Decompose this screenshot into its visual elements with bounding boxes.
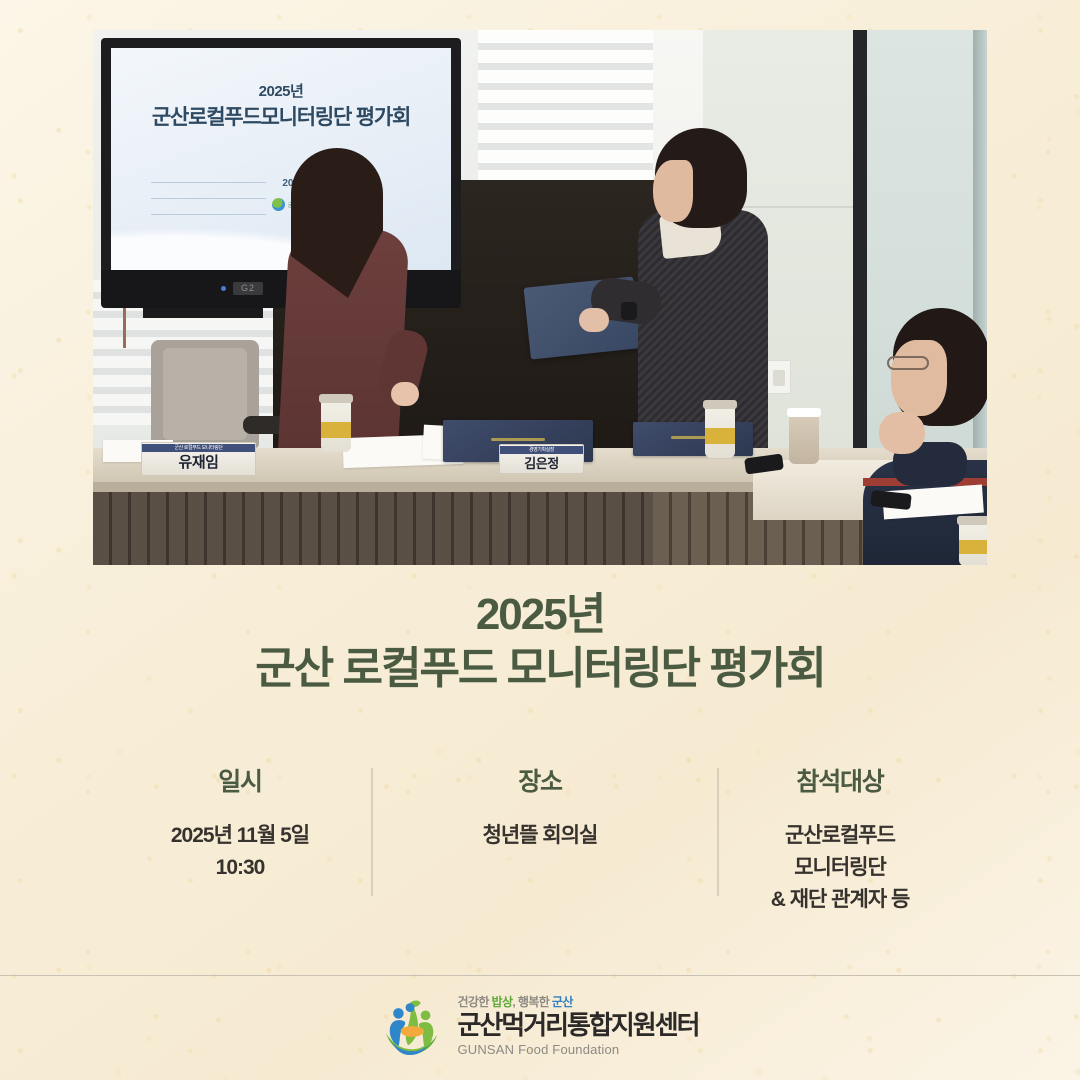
person-right-glasses-icon bbox=[887, 356, 929, 370]
foundation-logo-text: 건강한 밥상, 행복한 군산 군산먹거리통합지원센터 GUNSAN Food F… bbox=[457, 993, 698, 1057]
nameplate-2-name: 김은정 bbox=[524, 454, 558, 473]
nameplate-2-org: 경영기획실장 bbox=[500, 446, 583, 454]
footer: 건강한 밥상, 행복한 군산 군산먹거리통합지원센터 GUNSAN Food F… bbox=[0, 984, 1080, 1066]
monitor-led-icon bbox=[221, 286, 226, 291]
slide-year: 2025년 bbox=[111, 80, 451, 101]
column-divider-1 bbox=[371, 768, 373, 896]
nameplate-1-org: 군산 로컬푸드 모니터링단 bbox=[142, 444, 255, 452]
nameplate-2: 경영기획실장 김은정 bbox=[499, 444, 584, 474]
coffee-cup-2-lid bbox=[703, 400, 737, 409]
info-column-attendees: 참석대상 군산로컬푸드 모니터링단 & 재단 관계자 등 bbox=[690, 762, 990, 922]
coffee-cup-4-band bbox=[959, 540, 987, 554]
title-year: 2025년 bbox=[0, 588, 1080, 642]
info-value-place-line1: 청년뜰 회의실 bbox=[390, 820, 690, 852]
foundation-tagline: 건강한 밥상, 행복한 군산 bbox=[457, 993, 698, 1010]
info-column-place: 장소 청년뜰 회의실 bbox=[390, 762, 690, 922]
chair-cushion bbox=[163, 348, 247, 440]
event-photo: 2025년 군산로컬푸드모니터링단 평가회 2025. 11. 5. 군산먹거리… bbox=[93, 30, 987, 565]
info-heading-place: 장소 bbox=[390, 762, 690, 798]
coffee-cup-1-band bbox=[321, 422, 351, 438]
certificate-folder-right bbox=[633, 422, 753, 456]
nameplate-1-name: 유재임 bbox=[179, 452, 219, 474]
door-frame bbox=[853, 30, 867, 460]
poster-card: 2025년 군산로컬푸드모니터링단 평가회 2025. 11. 5. 군산먹거리… bbox=[0, 0, 1080, 1080]
tagline-part2: , 행복한 bbox=[512, 995, 552, 1009]
info-value-date-line2: 10:30 bbox=[90, 852, 390, 884]
tagline-highlight2: 군산 bbox=[552, 995, 573, 1009]
coffee-cup-4-lid bbox=[957, 516, 987, 525]
monitor-stand bbox=[143, 308, 263, 318]
coffee-cup-3 bbox=[789, 412, 819, 464]
monitor-brand-label: G2 bbox=[233, 282, 263, 295]
info-column-date: 일시 2025년 11월 5일 10:30 bbox=[90, 762, 390, 922]
person-right-face bbox=[891, 340, 947, 416]
wall-outlet bbox=[765, 360, 791, 394]
slide-logo-icon bbox=[272, 198, 285, 211]
person-right-hand bbox=[879, 412, 925, 454]
tagline-part1: 건강한 bbox=[457, 995, 491, 1009]
coffee-cup-1-lid bbox=[319, 394, 353, 403]
slide-title: 군산로컬푸드모니터링단 평가회 bbox=[111, 104, 451, 132]
tagline-highlight1: 밥상 bbox=[492, 995, 513, 1009]
foundation-name-english: GUNSAN Food Foundation bbox=[457, 1042, 698, 1057]
info-value-attendees-line2: 모니터링단 bbox=[690, 852, 990, 884]
person-center-face bbox=[653, 160, 693, 222]
info-heading-date: 일시 bbox=[90, 762, 390, 798]
info-value-attendees-line3: & 재단 관계자 등 bbox=[690, 884, 990, 916]
person-center-hand bbox=[579, 308, 609, 332]
info-value-date-line1: 2025년 11월 5일 bbox=[90, 820, 390, 852]
person-left-hand bbox=[391, 382, 419, 406]
person-center-watch bbox=[621, 302, 637, 320]
coffee-cup-3-lid bbox=[787, 408, 821, 417]
nameplate-1: 군산 로컬푸드 모니터링단 유재임 bbox=[141, 442, 256, 476]
monitor-cable bbox=[123, 308, 126, 348]
info-columns: 일시 2025년 11월 5일 10:30 장소 청년뜰 회의실 참석대상 군산… bbox=[90, 762, 990, 922]
info-value-attendees-line1: 군산로컬푸드 bbox=[690, 820, 990, 852]
coffee-cup-2-band bbox=[705, 428, 735, 444]
column-divider-2 bbox=[717, 768, 719, 896]
poster-title: 2025년 군산 로컬푸드 모니터링단 평가회 bbox=[0, 588, 1080, 695]
info-heading-attendees: 참석대상 bbox=[690, 762, 990, 798]
slide-rule-3 bbox=[151, 214, 266, 215]
title-main: 군산 로컬푸드 모니터링단 평가회 bbox=[0, 642, 1080, 696]
footer-divider bbox=[0, 975, 1080, 976]
foundation-logo-icon bbox=[381, 994, 443, 1056]
table-skirt-left bbox=[93, 492, 653, 565]
foundation-name: 군산먹거리통합지원센터 bbox=[457, 1011, 698, 1040]
